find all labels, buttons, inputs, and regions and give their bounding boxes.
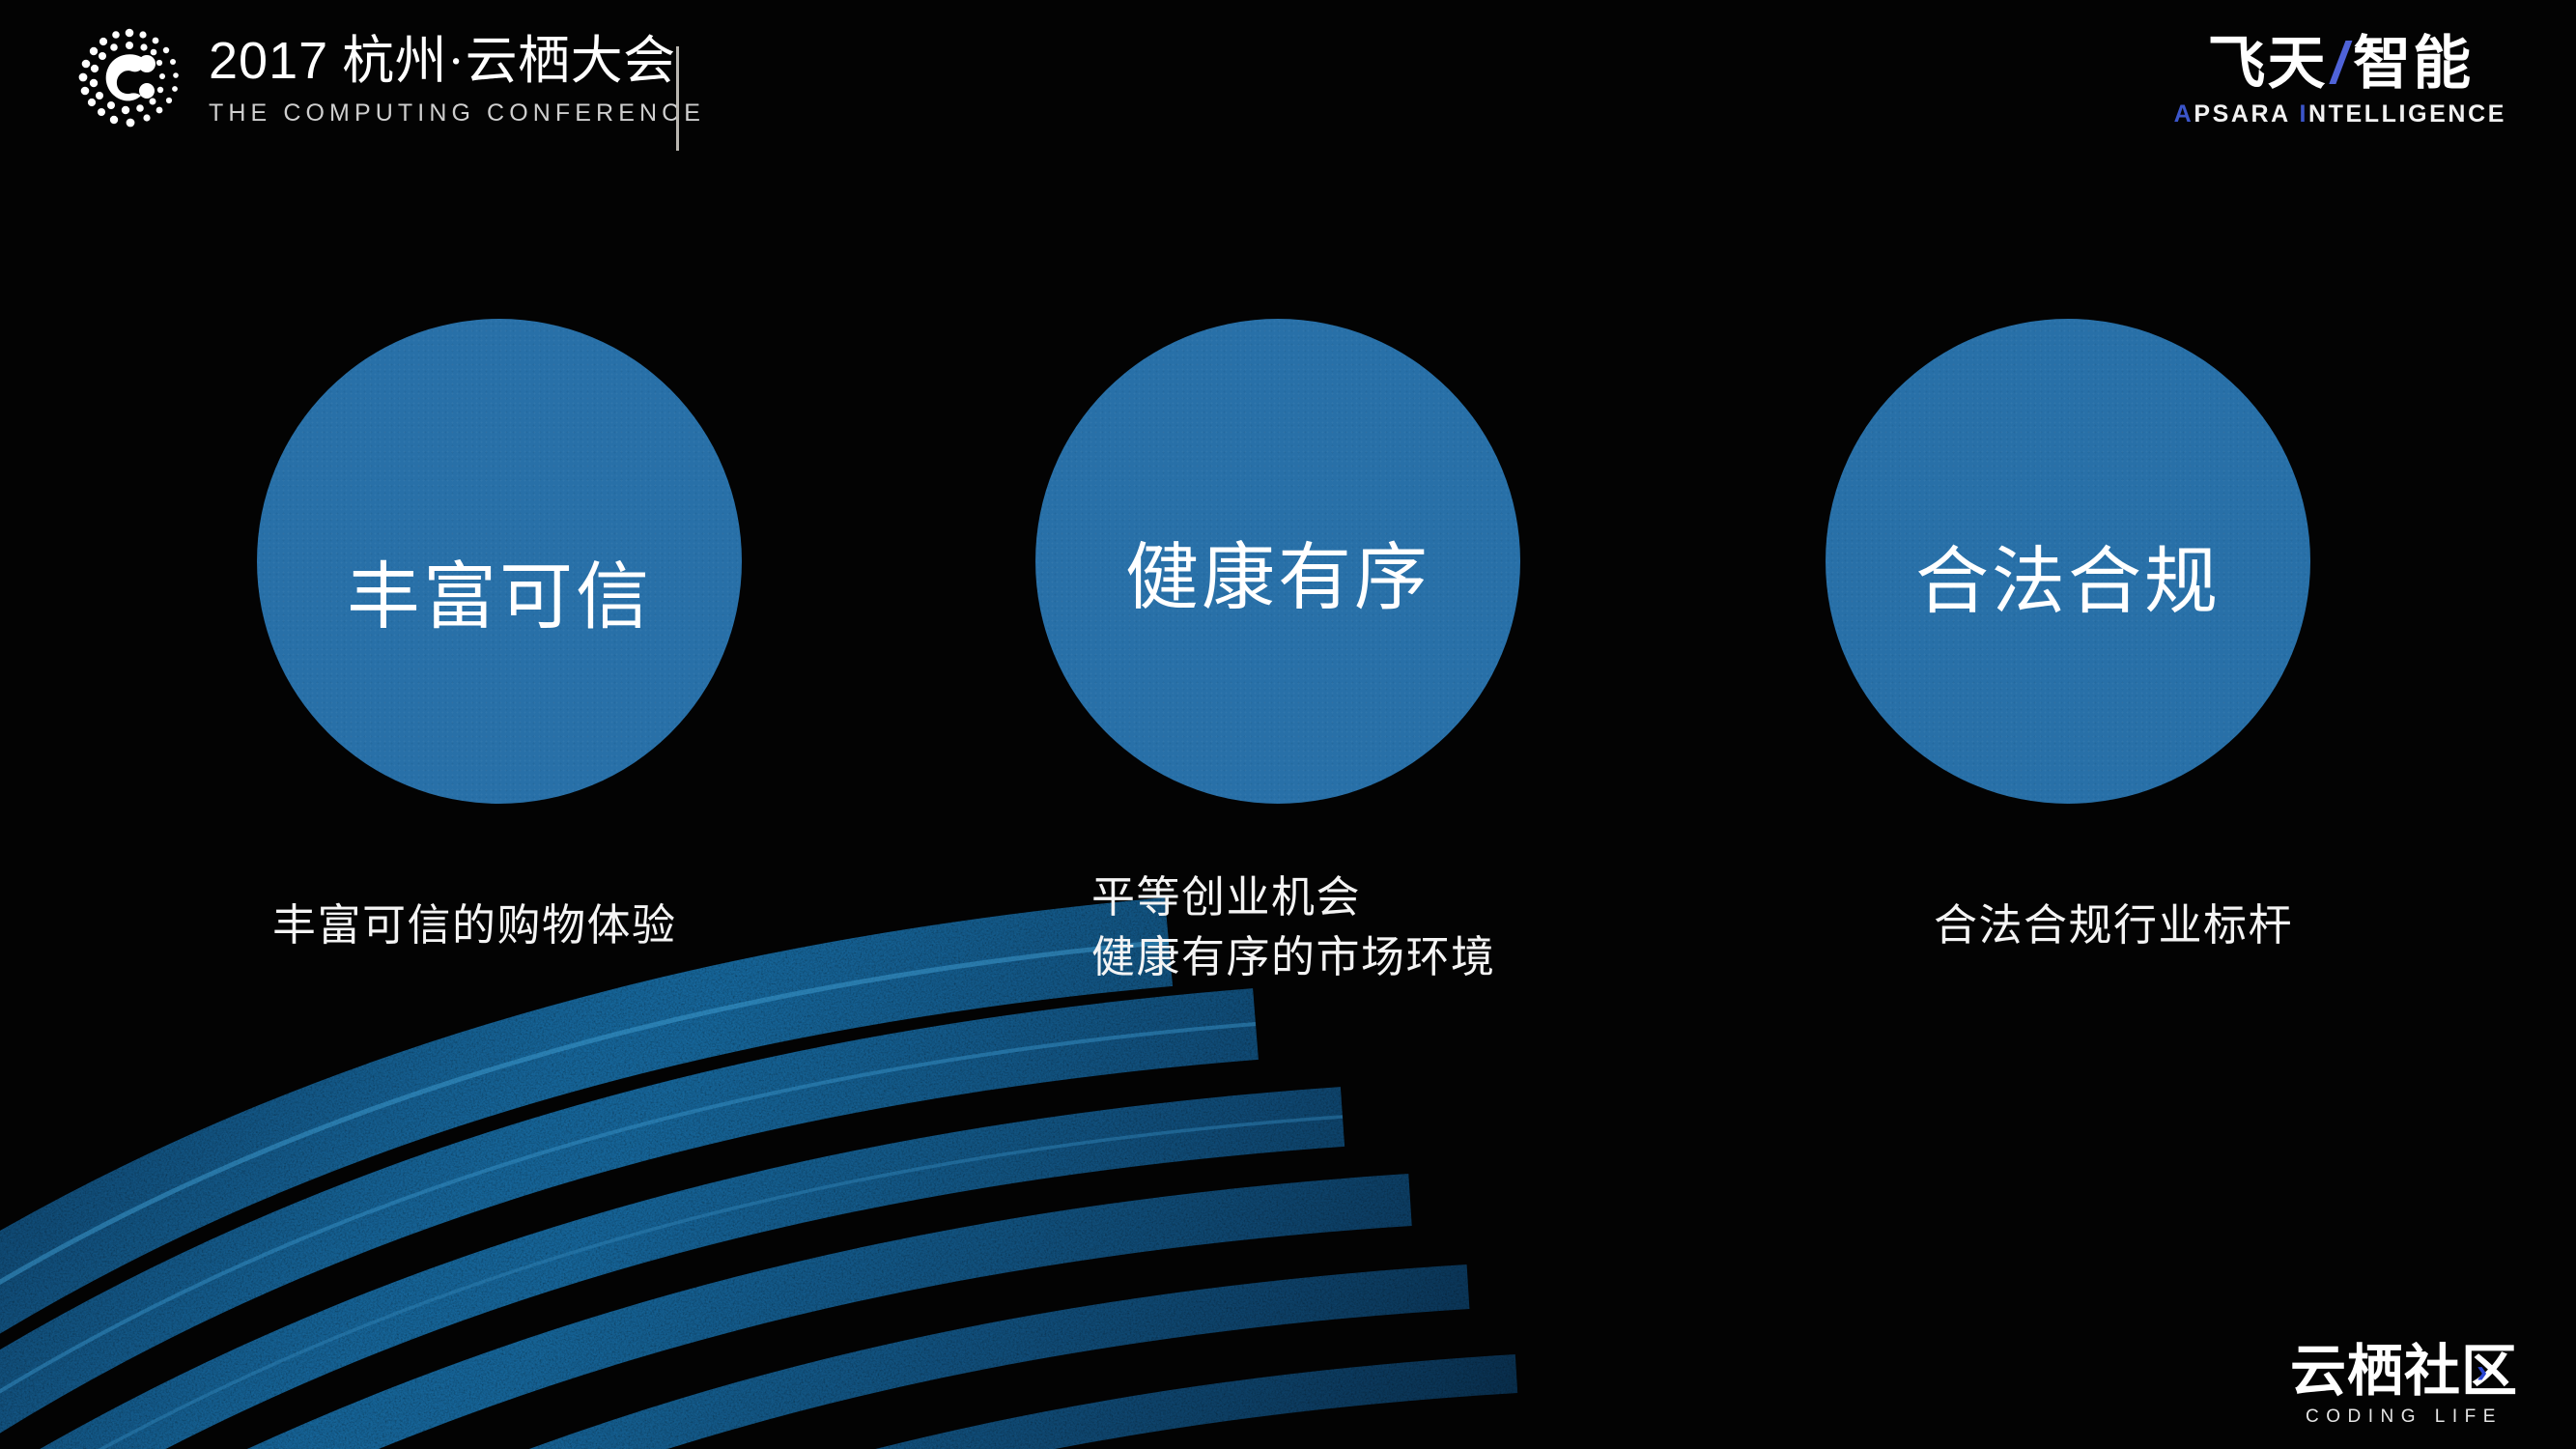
concept-caption-legal-compliant: 合法合规行业标杆 [1934, 895, 2293, 955]
apsara-cn-left: 飞天 [2207, 31, 2327, 96]
conference-title-cn: 杭州·云栖大会 [328, 32, 675, 90]
header-divider [676, 46, 679, 151]
concept-circle-label: 丰富可信 [347, 559, 652, 637]
concept-caption-rich-trustworthy: 丰富可信的购物体验 [272, 895, 677, 955]
concept-circle-rich-trustworthy: 丰富可信 [257, 319, 742, 804]
apsara-en-a: A [2174, 100, 2194, 128]
apsara-logo-en: APSARA INTELLIGENCE [2174, 100, 2506, 128]
caption-line: 丰富可信的购物体验 [272, 895, 677, 955]
yunqi-cn-main: 云栖社 [2290, 1342, 2461, 1402]
concept-circle-label: 合法合规 [1915, 544, 2221, 621]
yunqi-qu-char: 区 [2461, 1340, 2518, 1403]
concept-caption-healthy-orderly: 平等创业机会 健康有序的市场环境 [1091, 867, 1496, 987]
conference-logo: 2017 杭州·云栖大会 THE COMPUTING CONFERENCE [75, 21, 705, 137]
apsara-en-i: I [2299, 100, 2308, 128]
yunqi-logo-cn: 云栖社区› [2290, 1342, 2518, 1402]
apsara-slash: / [2327, 31, 2353, 96]
chevron-right-icon: › [2477, 1355, 2488, 1388]
apsara-logo-cn: 飞天/智能 [2174, 33, 2506, 95]
apsara-cn-right: 智能 [2353, 31, 2473, 96]
yunqi-cn-qu: 区› [2461, 1342, 2518, 1402]
yunqi-community-logo: 云栖社区› CODING LIFE [2290, 1342, 2518, 1428]
apsara-en-psara: PSARA [2194, 100, 2290, 128]
apsara-en-ntelligence: NTELLIGENCE [2308, 100, 2506, 128]
concept-circle-healthy-orderly: 健康有序 [1035, 319, 1520, 804]
concept-circle-label: 健康有序 [1125, 540, 1430, 617]
concept-circle-legal-compliant: 合法合规 [1826, 319, 2310, 804]
conference-wordmark: 2017 杭州·云栖大会 THE COMPUTING CONFERENCE [209, 32, 705, 128]
yunqi-logo-en: CODING LIFE [2290, 1406, 2518, 1428]
conference-year: 2017 [209, 32, 328, 90]
conference-title-line: 2017 杭州·云栖大会 [209, 32, 705, 90]
computing-conference-dots-c-icon [75, 25, 184, 133]
conference-title-en: THE COMPUTING CONFERENCE [209, 99, 705, 128]
caption-line: 平等创业机会 [1091, 867, 1496, 927]
caption-line: 合法合规行业标杆 [1934, 895, 2293, 955]
caption-line: 健康有序的市场环境 [1091, 927, 1496, 987]
apsara-intelligence-logo: 飞天/智能 APSARA INTELLIGENCE [2174, 33, 2506, 128]
slide-canvas: 2017 杭州·云栖大会 THE COMPUTING CONFERENCE 飞天… [0, 0, 2576, 1449]
